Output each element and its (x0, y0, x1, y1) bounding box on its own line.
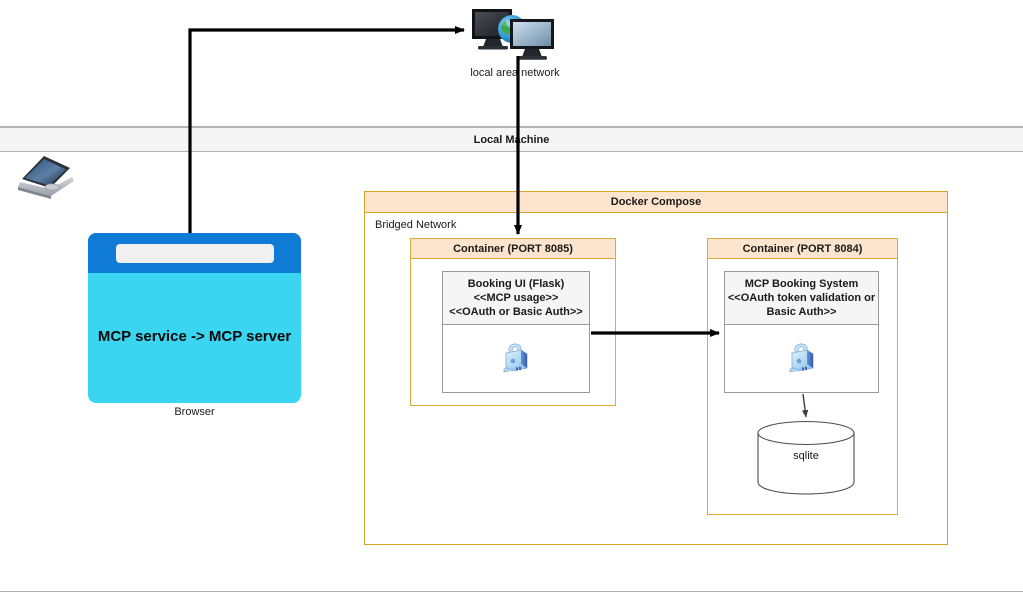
padlock-key-icon (785, 338, 819, 381)
browser-label: Browser (88, 406, 301, 418)
local-area-network-label: local area network (440, 67, 590, 79)
docker-compose-title: Docker Compose (364, 191, 948, 213)
mcp-booking-system-name: MCP Booking System (745, 277, 859, 291)
booking-ui-body (442, 325, 590, 393)
container-8084-title: Container (PORT 8084) (707, 238, 898, 259)
mcp-booking-system-stereotype-1: <<OAuth token validation or (728, 291, 875, 305)
mcp-booking-system-body (724, 325, 879, 393)
network-globe-monitors-icon (466, 6, 562, 62)
booking-ui-stereotype-2: <<OAuth or Basic Auth>> (449, 305, 582, 319)
laptop-icon (10, 152, 78, 204)
sqlite-label: sqlite (757, 450, 855, 462)
diagram-canvas: Local Machine Docker Compose Bridged Net… (0, 0, 1023, 592)
bridged-network-label: Bridged Network (375, 219, 456, 231)
padlock-key-icon (499, 338, 533, 381)
mcp-booking-system-stereotype-2: Basic Auth>> (767, 305, 837, 319)
mcp-booking-system-title: MCP Booking System <<OAuth token validat… (724, 271, 879, 325)
booking-ui-stereotype-1: <<MCP usage>> (474, 291, 559, 305)
container-8085-title: Container (PORT 8085) (410, 238, 616, 259)
browser-url-input[interactable] (116, 244, 274, 263)
local-machine-title: Local Machine (0, 127, 1023, 152)
browser-content-text: MCP service -> MCP server (88, 328, 301, 345)
booking-ui-name: Booking UI (Flask) (468, 277, 565, 291)
booking-ui-title: Booking UI (Flask) <<MCP usage>> <<OAuth… (442, 271, 590, 325)
